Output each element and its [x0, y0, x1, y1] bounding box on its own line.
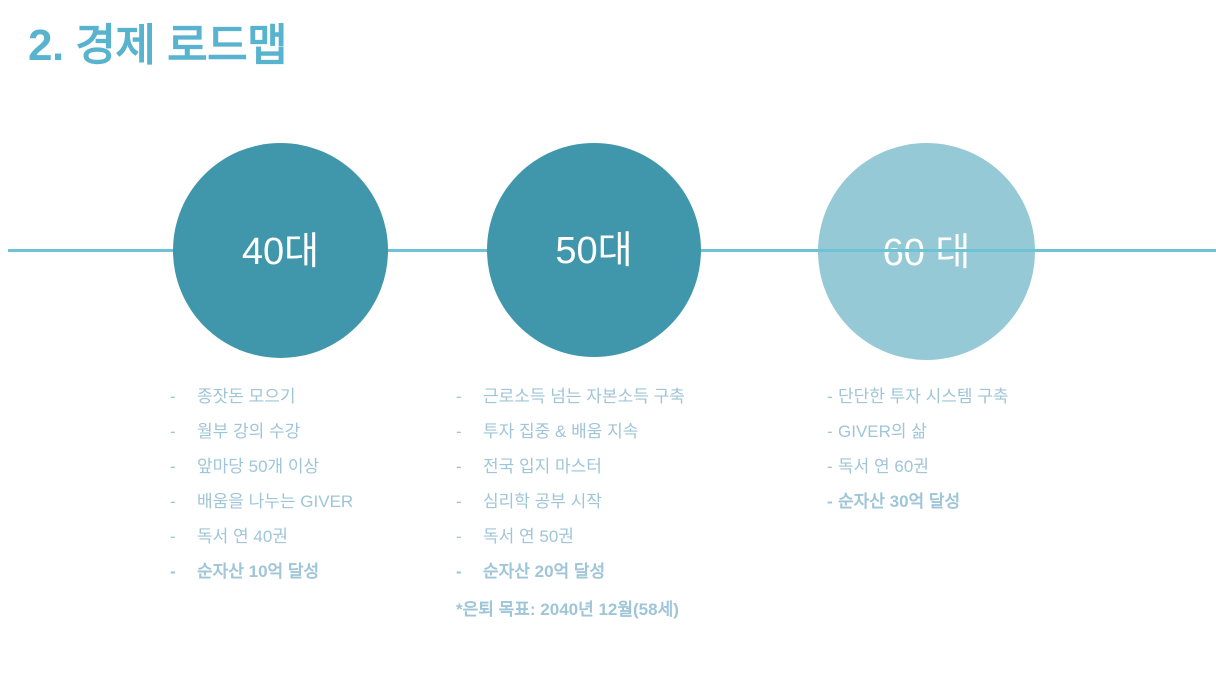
bullet-dash-icon: -	[456, 423, 483, 440]
list-item-highlight: - 순자산 20억 달성	[456, 563, 685, 598]
bullet-dash-icon: -	[170, 563, 197, 580]
bullet-dash-icon: -	[827, 388, 838, 405]
list-item: - 투자 집중 & 배움 지속	[456, 423, 685, 458]
list-item-label: 월부 강의 수강	[197, 423, 300, 440]
list-item: - 독서 연 60권	[827, 458, 1009, 493]
stage-list-40s: - 종잣돈 모으기 - 월부 강의 수강 - 앞마당 50개 이상 - 배움을 …	[170, 388, 353, 598]
list-item-label: GIVER의 삶	[838, 423, 927, 440]
bullet-dash-icon: -	[456, 528, 483, 545]
stage-list-50s: - 근로소득 넘는 자본소득 구축 - 투자 집중 & 배움 지속 - 전국 입…	[456, 388, 685, 618]
list-item-label: 근로소득 넘는 자본소득 구축	[483, 388, 685, 405]
list-item-highlight: - 순자산 10억 달성	[170, 563, 353, 598]
list-item-label: 심리학 공부 시작	[483, 493, 602, 510]
list-item-label: 앞마당 50개 이상	[197, 458, 319, 475]
bullet-dash-icon: -	[456, 563, 483, 580]
stage-list-60s: - 단단한 투자 시스템 구축 - GIVER의 삶 - 독서 연 60권 - …	[827, 388, 1009, 528]
list-item: - 전국 입지 마스터	[456, 458, 685, 493]
list-item-label: 순자산 20억 달성	[483, 563, 605, 580]
bullet-dash-icon: -	[170, 493, 197, 510]
list-item-label: 독서 연 40권	[197, 528, 288, 545]
list-item: - 월부 강의 수강	[170, 423, 353, 458]
list-item: - 심리학 공부 시작	[456, 493, 685, 528]
bullet-dash-icon: -	[456, 388, 483, 405]
bullet-dash-icon: -	[456, 458, 483, 475]
list-item-label: 순자산 10억 달성	[197, 563, 319, 580]
bullet-dash-icon: -	[170, 388, 197, 405]
bullet-dash-icon: -	[170, 423, 197, 440]
list-item-label: 투자 집중 & 배움 지속	[483, 423, 638, 440]
list-item: - 앞마당 50개 이상	[170, 458, 353, 493]
list-item: - 독서 연 50권	[456, 528, 685, 563]
bullet-dash-icon: -	[170, 458, 197, 475]
bullet-dash-icon: -	[170, 528, 197, 545]
list-item-label: 종잣돈 모으기	[197, 388, 296, 405]
stage-detail-columns: - 종잣돈 모으기 - 월부 강의 수강 - 앞마당 50개 이상 - 배움을 …	[0, 0, 1216, 684]
retirement-goal-footnote: *은퇴 목표: 2040년 12월(58세)	[456, 601, 685, 618]
bullet-dash-icon: -	[456, 493, 483, 510]
bullet-dash-icon: -	[827, 458, 838, 475]
list-item-label: 전국 입지 마스터	[483, 458, 602, 475]
list-item: - 근로소득 넘는 자본소득 구축	[456, 388, 685, 423]
bullet-dash-icon: -	[827, 423, 838, 440]
list-item-label: 독서 연 60권	[838, 458, 929, 475]
list-item-label: 단단한 투자 시스템 구축	[838, 388, 1009, 405]
list-item: - 독서 연 40권	[170, 528, 353, 563]
list-item-highlight: - 순자산 30억 달성	[827, 493, 1009, 528]
list-item: - GIVER의 삶	[827, 423, 1009, 458]
list-item-label: 순자산 30억 달성	[838, 493, 960, 510]
bullet-dash-icon: -	[827, 493, 838, 510]
list-item-label: 독서 연 50권	[483, 528, 574, 545]
list-item: - 단단한 투자 시스템 구축	[827, 388, 1009, 423]
list-item-label: 배움을 나누는 GIVER	[197, 493, 353, 510]
list-item: - 배움을 나누는 GIVER	[170, 493, 353, 528]
list-item: - 종잣돈 모으기	[170, 388, 353, 423]
